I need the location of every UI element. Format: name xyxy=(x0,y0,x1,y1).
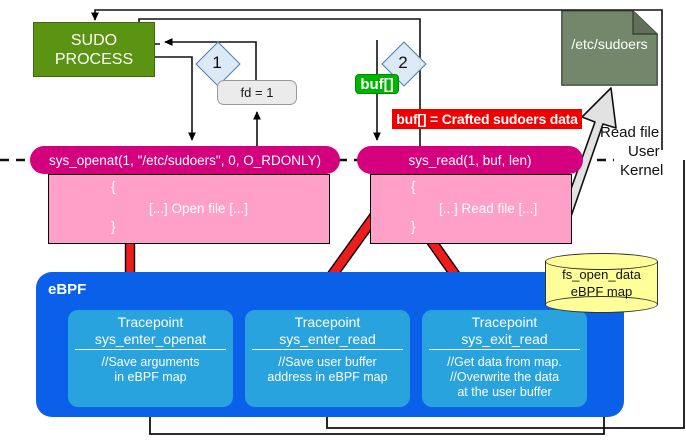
step-1-number: 1 xyxy=(202,48,232,78)
syscall-openat-body: { [...] Open file [...] } xyxy=(48,174,330,244)
openat-open-brace: { xyxy=(111,179,116,194)
openat-close-brace: } xyxy=(111,219,116,234)
tracepoint-sys-enter-read[interactable]: Tracepoint sys_enter_read //Save user bu… xyxy=(245,310,410,407)
tracepoint-3-title: Tracepoint sys_exit_read xyxy=(429,310,581,350)
ebpf-map-name: fs_open_data xyxy=(545,266,658,283)
sudo-process-line2: PROCESS xyxy=(55,50,133,69)
tracepoint-2-comment: //Save user buffer address in eBPF map xyxy=(267,350,387,385)
tracepoint-1-comment-line1: //Save arguments xyxy=(102,355,200,370)
syscall-read-header: sys_read(1, buf, len) xyxy=(357,146,583,174)
tracepoint-sys-enter-openat[interactable]: Tracepoint sys_enter_openat //Save argum… xyxy=(68,310,233,407)
sudo-process-line1: SUDO xyxy=(55,31,133,50)
read-file-label: Read file xyxy=(600,124,659,141)
tracepoint-3-comment-line3: at the user buffer xyxy=(447,385,562,400)
tracepoint-2-comment-line1: //Save user buffer xyxy=(267,355,387,370)
tracepoint-1-kind: Tracepoint xyxy=(75,314,227,331)
ebpf-map-subtitle: eBPF map xyxy=(545,283,658,300)
sudoers-file-label: /etc/sudoers xyxy=(561,36,658,52)
tracepoint-2-comment-line2: address in eBPF map xyxy=(267,370,387,385)
ebpf-map-cylinder: fs_open_data eBPF map xyxy=(545,253,658,309)
ebpf-map-text: fs_open_data eBPF map xyxy=(545,266,658,300)
tracepoint-2-kind: Tracepoint xyxy=(252,314,404,331)
tracepoint-1-name: sys_enter_openat xyxy=(75,331,227,348)
tracepoint-sys-exit-read[interactable]: Tracepoint sys_exit_read //Get data from… xyxy=(422,310,587,407)
tracepoint-1-comment-line2: in eBPF map xyxy=(102,370,200,385)
crafted-data-banner: buf[] = Crafted sudoers data xyxy=(392,109,582,129)
syscall-read-body: { [...] Read file [...] } xyxy=(370,174,572,244)
tracepoint-3-comment-line2: //Overwrite the data xyxy=(447,370,562,385)
tracepoint-3-comment: //Get data from map. //Overwrite the dat… xyxy=(447,350,562,400)
diagram-canvas: SUDO PROCESS 1 2 fd = 1 buf[] buf[] = Cr… xyxy=(0,0,686,447)
openat-body-text: [...] Open file [...] xyxy=(149,201,248,216)
tracepoint-2-name: sys_enter_read xyxy=(252,331,404,348)
read-open-brace: { xyxy=(411,179,416,194)
ebpf-label: eBPF xyxy=(48,281,86,298)
tracepoint-3-name: sys_exit_read xyxy=(429,331,581,348)
read-body-text: [...] Read file [...] xyxy=(439,201,537,216)
buf-tag: buf[] xyxy=(355,74,399,94)
user-space-label: User xyxy=(628,143,660,160)
kernel-space-label: Kernel xyxy=(620,162,663,179)
syscall-openat-header: sys_openat(1, "/etc/sudoers", 0, O_RDONL… xyxy=(30,146,340,174)
tracepoint-2-title: Tracepoint sys_enter_read xyxy=(252,310,404,350)
tracepoint-1-comment: //Save arguments in eBPF map xyxy=(102,350,200,385)
tracepoint-3-kind: Tracepoint xyxy=(429,314,581,331)
sudo-process-box: SUDO PROCESS xyxy=(33,22,155,77)
tracepoint-3-comment-line1: //Get data from map. xyxy=(447,355,562,370)
read-close-brace: } xyxy=(411,219,416,234)
call-openat-arrow xyxy=(155,57,192,140)
fd-value-box: fd = 1 xyxy=(217,80,297,105)
tracepoint-1-title: Tracepoint sys_enter_openat xyxy=(75,310,227,350)
